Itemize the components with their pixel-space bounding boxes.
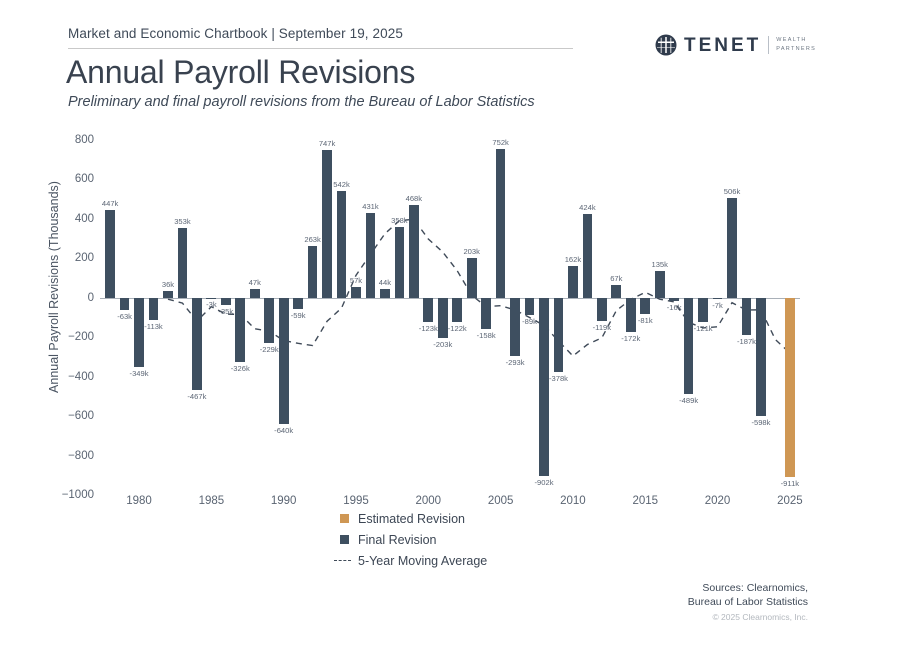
copyright-notice: © 2025 Clearnomics, Inc.	[688, 612, 808, 622]
chart-footer: Sources: Clearnomics, Bureau of Labor St…	[688, 581, 808, 622]
bar-value-label-2001: -203k	[433, 340, 452, 349]
x-axis-tick-label: 2020	[705, 495, 731, 507]
bar-1999[interactable]	[409, 205, 419, 297]
bar-value-label-1985: -3k	[206, 300, 217, 309]
bar-value-label-1978: 447k	[102, 199, 118, 208]
bar-1979[interactable]	[120, 298, 130, 310]
bar-2021[interactable]	[727, 198, 737, 298]
bar-1992[interactable]	[308, 246, 318, 298]
x-axis-tick-label: 1990	[271, 495, 297, 507]
tenet-wealth-partners-logo: TENET WEALTH PARTNERS	[655, 32, 816, 58]
legend-swatch-icon	[340, 535, 349, 544]
legend-item-1[interactable]: Final Revision	[340, 529, 487, 550]
bar-1980[interactable]	[134, 298, 144, 367]
bar-2018[interactable]	[684, 298, 694, 394]
bar-1982[interactable]	[163, 291, 173, 298]
bar-1981[interactable]	[149, 298, 159, 320]
plot-area: 447k-63k-349k-113k36k353k-467k-3k-35k-32…	[100, 140, 800, 495]
bar-value-label-1989: -229k	[260, 345, 279, 354]
bar-value-label-1990: -640k	[274, 426, 293, 435]
y-axis-tick-label: 0	[88, 292, 94, 304]
bar-value-label-1998: 358k	[391, 216, 407, 225]
moving-average-line	[100, 140, 800, 495]
legend-swatch-icon	[340, 514, 349, 523]
bar-1998[interactable]	[395, 227, 405, 298]
bar-1985[interactable]	[206, 298, 216, 299]
bar-1988[interactable]	[250, 289, 260, 298]
bar-1994[interactable]	[337, 191, 347, 298]
bar-1983[interactable]	[178, 228, 188, 298]
bar-1995[interactable]	[351, 287, 361, 298]
legend-item-0[interactable]: Estimated Revision	[340, 508, 487, 529]
bar-value-label-1993: 747k	[319, 139, 335, 148]
bar-1993[interactable]	[322, 150, 332, 297]
bar-value-label-2015: -81k	[638, 316, 653, 325]
bar-1996[interactable]	[366, 213, 376, 298]
page-header: Market and Economic Chartbook | Septembe…	[0, 0, 900, 120]
bar-value-label-2004: -158k	[477, 331, 496, 340]
bar-2017[interactable]	[669, 298, 679, 301]
source-line-1: Sources: Clearnomics,	[688, 581, 808, 595]
bar-value-label-2002: -122k	[448, 324, 467, 333]
bar-value-label-1986: -35k	[218, 307, 233, 316]
y-axis-tick-label: 400	[75, 213, 94, 225]
bar-value-label-2009: -378k	[549, 374, 568, 383]
bar-2000[interactable]	[423, 298, 433, 322]
bar-value-label-1999: 468k	[406, 194, 422, 203]
bar-1997[interactable]	[380, 289, 390, 298]
bar-2001[interactable]	[438, 298, 448, 338]
tenet-circle-icon	[655, 34, 677, 56]
chartbook-kicker: Market and Economic Chartbook | Septembe…	[68, 26, 403, 41]
y-axis-tick-label: −1000	[62, 489, 94, 501]
y-axis-ticks: 8006004002000−200−400−600−800−1000	[0, 140, 100, 495]
bar-2014[interactable]	[626, 298, 636, 332]
x-axis-tick-label: 2015	[632, 495, 658, 507]
bar-value-label-2025: -911k	[781, 479, 799, 488]
bar-2009[interactable]	[554, 298, 564, 373]
x-axis-tick-label: 2000	[416, 495, 442, 507]
legend-item-2[interactable]: 5-Year Moving Average	[340, 550, 487, 571]
bar-value-label-2016: 135k	[651, 260, 667, 269]
dashed-line-icon	[340, 556, 349, 565]
bar-value-label-1981: -113k	[144, 322, 162, 331]
x-axis-tick-label: 1985	[199, 495, 225, 507]
y-axis-tick-label: −400	[68, 371, 94, 383]
bar-value-label-2018: -489k	[679, 396, 698, 405]
bar-value-label-1987: -326k	[231, 364, 250, 373]
bar-value-label-1988: 47k	[249, 278, 261, 287]
bar-2020[interactable]	[713, 298, 723, 299]
bar-2011[interactable]	[583, 214, 593, 298]
bar-value-label-2020: -7k	[712, 301, 723, 310]
bar-1990[interactable]	[279, 298, 289, 424]
bar-2019[interactable]	[698, 298, 708, 322]
bar-value-label-1995: 57k	[350, 276, 362, 285]
logo-divider	[768, 36, 769, 54]
y-axis-tick-label: −800	[68, 450, 94, 462]
bar-value-label-2013: 67k	[610, 274, 622, 283]
x-axis-tick-label: 1980	[126, 495, 152, 507]
bar-value-label-2021: 506k	[724, 187, 740, 196]
bar-2010[interactable]	[568, 266, 578, 298]
logo-subtext: WEALTH PARTNERS	[776, 36, 816, 53]
header-divider	[68, 48, 573, 49]
bar-value-label-2008: -902k	[535, 478, 554, 487]
logo-subtext-line1: WEALTH	[776, 36, 816, 45]
bar-value-label-1980: -349k	[130, 369, 149, 378]
x-axis-tick-label: 2005	[488, 495, 514, 507]
logo-subtext-line2: PARTNERS	[776, 45, 816, 54]
bar-value-label-2000: -123k	[419, 324, 438, 333]
bar-value-label-1982: 36k	[162, 280, 174, 289]
y-axis-tick-label: 200	[75, 252, 94, 264]
bar-1987[interactable]	[235, 298, 245, 362]
x-axis-tick-label: 2010	[560, 495, 586, 507]
bar-value-label-2019: -121k	[694, 324, 713, 333]
bar-2022[interactable]	[742, 298, 752, 335]
page-subtitle: Preliminary and final payroll revisions …	[68, 94, 535, 110]
chart-legend: Estimated RevisionFinal Revision5-Year M…	[340, 508, 487, 571]
y-axis-tick-label: 600	[75, 173, 94, 185]
bar-value-label-1996: 431k	[362, 202, 378, 211]
bar-2002[interactable]	[452, 298, 462, 322]
bar-value-label-2022: -187k	[737, 337, 756, 346]
bar-2025[interactable]	[785, 298, 795, 478]
bar-value-label-2012: -119k	[593, 323, 611, 332]
bar-2004[interactable]	[481, 298, 491, 329]
bar-value-label-2010: 162k	[565, 255, 581, 264]
bar-1989[interactable]	[264, 298, 274, 343]
bar-2008[interactable]	[539, 298, 549, 476]
legend-label: 5-Year Moving Average	[358, 554, 487, 568]
bar-value-label-1984: -467k	[187, 392, 206, 401]
legend-label: Estimated Revision	[358, 512, 465, 526]
bar-value-label-1992: 263k	[304, 235, 320, 244]
bar-value-label-2017: -16k	[667, 303, 682, 312]
logo-wordmark: TENET	[684, 36, 761, 55]
bar-value-label-2006: -293k	[506, 358, 525, 367]
bar-2023[interactable]	[756, 298, 766, 416]
bar-2007[interactable]	[525, 298, 535, 316]
bar-1978[interactable]	[105, 210, 115, 298]
legend-label: Final Revision	[358, 533, 437, 547]
bar-value-label-2007: -89k	[522, 317, 537, 326]
bar-value-label-2011: 424k	[579, 203, 595, 212]
bar-value-label-1983: 353k	[174, 217, 190, 226]
bar-2006[interactable]	[510, 298, 520, 356]
page-title: Annual Payroll Revisions	[66, 54, 415, 91]
y-axis-tick-label: −200	[68, 331, 94, 343]
bar-2015[interactable]	[640, 298, 650, 314]
source-line-2: Bureau of Labor Statistics	[688, 595, 808, 609]
bar-value-label-1994: 542k	[333, 180, 349, 189]
bar-2012[interactable]	[597, 298, 607, 321]
bar-1984[interactable]	[192, 298, 202, 390]
bar-value-label-2023: -598k	[751, 418, 770, 427]
bar-2016[interactable]	[655, 271, 665, 298]
bar-2003[interactable]	[467, 258, 477, 298]
y-axis-tick-label: 800	[75, 134, 94, 146]
x-axis-tick-label: 2025	[777, 495, 803, 507]
bar-value-label-2014: -172k	[621, 334, 640, 343]
bar-value-label-2003: 203k	[463, 247, 479, 256]
bar-value-label-1997: 44k	[379, 278, 391, 287]
bar-1986[interactable]	[221, 298, 231, 305]
bar-1991[interactable]	[293, 298, 303, 310]
bar-2005[interactable]	[496, 149, 506, 297]
bar-value-label-1991: -59k	[291, 311, 306, 320]
bar-2013[interactable]	[611, 285, 621, 298]
x-axis-tick-label: 1995	[343, 495, 369, 507]
y-axis-tick-label: −600	[68, 410, 94, 422]
payroll-revisions-chart: Annual Payroll Revisions (Thousands) 800…	[0, 120, 900, 520]
bar-value-label-1979: -63k	[117, 312, 132, 321]
bar-value-label-2005: 752k	[492, 138, 508, 147]
